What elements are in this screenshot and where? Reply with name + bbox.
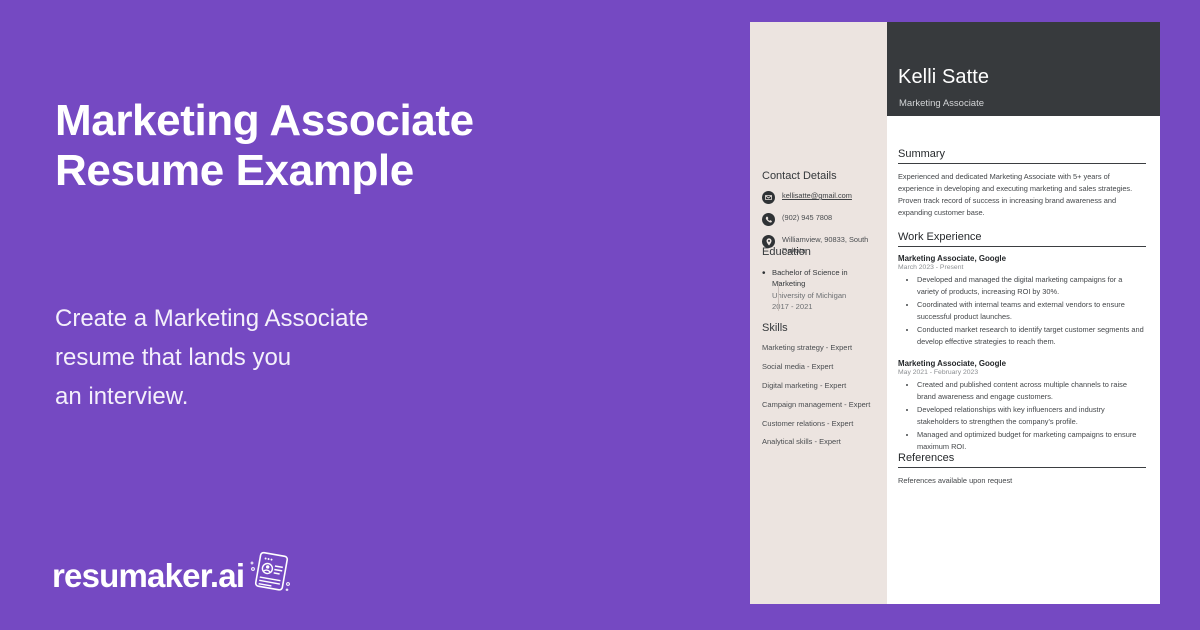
job-bullet-list: Developed and managed the digital market… <box>898 274 1146 348</box>
job-date: May 2021 - February 2023 <box>898 369 1146 376</box>
resume-person-role: Marketing Associate <box>899 98 984 109</box>
resume-person-name: Kelli Satte <box>898 66 989 89</box>
education-degree: Bachelor of Science in Marketing <box>772 268 848 288</box>
skill-item: Campaign management - Expert <box>762 400 880 411</box>
references-text: References available upon request <box>898 475 1146 487</box>
resume-sidebar <box>750 22 887 604</box>
page-title-line-2: Resume Example <box>55 146 675 196</box>
education-timeline-line <box>778 281 779 311</box>
skill-item: Digital marketing - Expert <box>762 381 880 392</box>
education-item: • Bachelor of Science in Marketing Unive… <box>762 267 880 313</box>
job-bullet: Managed and optimized budget for marketi… <box>917 429 1146 453</box>
page-title: Marketing Associate Resume Example <box>55 96 675 196</box>
summary-section: Summary Experienced and dedicated Market… <box>898 148 1146 219</box>
contact-details-title: Contact Details <box>762 170 880 182</box>
brand-logo-text: resumaker.ai <box>52 559 244 592</box>
contact-phone-text: (902) 945 7808 <box>782 213 832 224</box>
envelope-icon <box>762 191 775 204</box>
skills-title: Skills <box>762 322 880 334</box>
promo-subtext-line-2: resume that lands you <box>55 339 615 378</box>
contact-item-email[interactable]: kellisatte@gmail.com <box>762 191 880 204</box>
brand-logo[interactable]: resumaker.ai <box>52 552 292 599</box>
job-bullet: Created and published content across mul… <box>917 379 1146 403</box>
job-bullet: Developed relationships with key influen… <box>917 404 1146 428</box>
summary-text: Experienced and dedicated Marketing Asso… <box>898 171 1146 219</box>
education-title: Education <box>762 246 880 258</box>
skill-item: Social media - Expert <box>762 362 880 373</box>
promo-subtext-line-1: Create a Marketing Associate <box>55 300 615 339</box>
job-bullet: Conducted market research to identify ta… <box>917 324 1146 348</box>
job-bullet-list: Created and published content across mul… <box>898 379 1146 453</box>
skill-item: Marketing strategy - Expert <box>762 343 880 354</box>
resume-preview-card[interactable]: Kelli Satte Marketing Associate Contact … <box>750 22 1160 604</box>
promo-panel: Marketing Associate Resume Example Creat… <box>0 0 750 630</box>
resume-document-icon <box>248 548 292 599</box>
job-title: Marketing Associate, Google <box>898 254 1146 263</box>
references-section: References References available upon req… <box>898 452 1146 487</box>
bullet-icon: • <box>762 269 772 313</box>
education-section: Education • Bachelor of Science in Marke… <box>762 246 880 313</box>
work-experience-title: Work Experience <box>898 231 1146 247</box>
skills-section: Skills Marketing strategy - Expert Socia… <box>762 322 880 456</box>
promo-subtext: Create a Marketing Associate resume that… <box>55 300 615 417</box>
job-date: March 2023 - Present <box>898 264 1146 271</box>
phone-icon <box>762 213 775 226</box>
education-school: University of Michigan <box>772 291 846 300</box>
skill-item: Analytical skills - Expert <box>762 437 880 448</box>
job-bullet: Developed and managed the digital market… <box>917 274 1146 298</box>
work-experience-item: Marketing Associate, Google March 2023 -… <box>898 254 1146 348</box>
skill-item: Customer relations - Expert <box>762 419 880 430</box>
job-bullet: Coordinated with internal teams and exte… <box>917 299 1146 323</box>
promo-subtext-line-3: an interview. <box>55 378 615 417</box>
work-experience-section: Work Experience Marketing Associate, Goo… <box>898 231 1146 454</box>
summary-title: Summary <box>898 148 1146 164</box>
work-experience-item: Marketing Associate, Google May 2021 - F… <box>898 359 1146 453</box>
page-title-line-1: Marketing Associate <box>55 96 675 146</box>
job-title: Marketing Associate, Google <box>898 359 1146 368</box>
references-title: References <box>898 452 1146 468</box>
contact-email-text: kellisatte@gmail.com <box>782 191 852 202</box>
contact-item-phone[interactable]: (902) 945 7808 <box>762 213 880 226</box>
